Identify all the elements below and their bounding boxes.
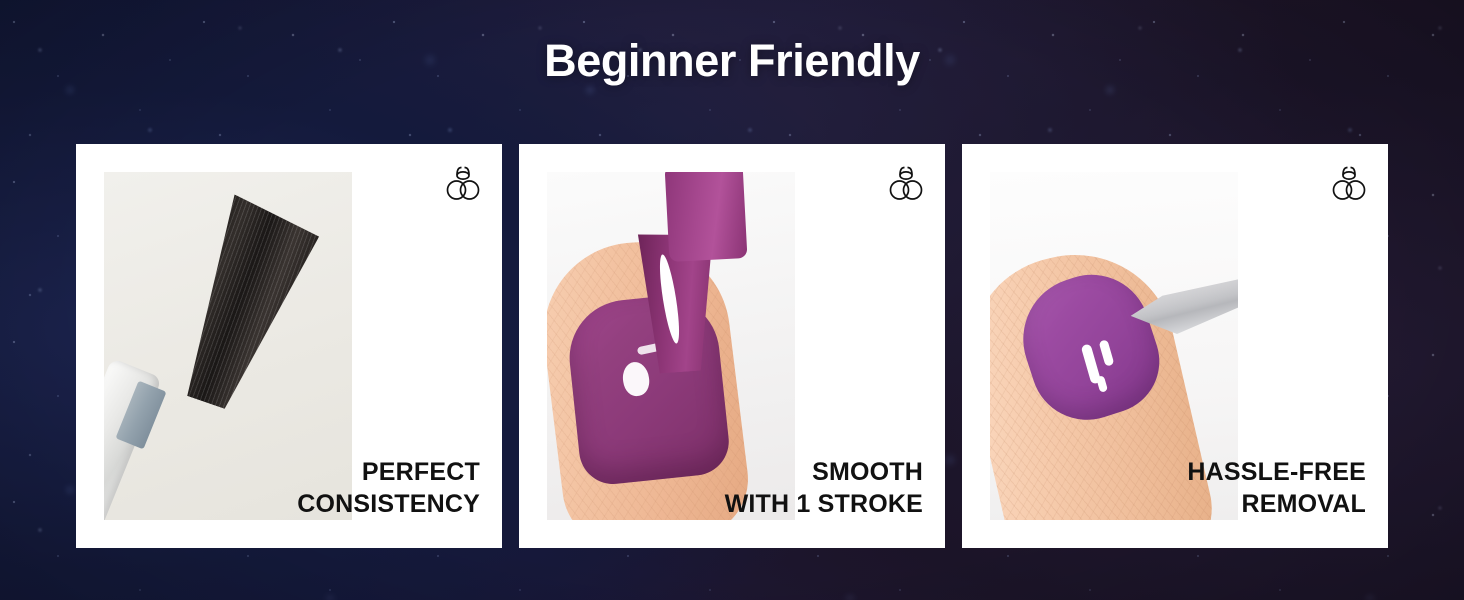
card-caption: PERFECT CONSISTENCY	[297, 456, 480, 520]
feature-card-smooth-with-1-stroke[interactable]: SMOOTH WITH 1 STROKE	[519, 144, 945, 548]
card-caption: HASSLE-FREE REMOVAL	[1187, 456, 1366, 520]
card-caption: SMOOTH WITH 1 STROKE	[725, 456, 923, 520]
painted-nail-shape	[564, 291, 732, 488]
bottle-cap-shape	[665, 172, 748, 262]
feature-card-perfect-consistency[interactable]: PERFECT CONSISTENCY	[76, 144, 502, 548]
bee-logo-icon	[446, 166, 480, 202]
bee-logo-icon	[889, 166, 923, 202]
feature-card-hassle-free-removal[interactable]: HASSLE-FREE REMOVAL	[962, 144, 1388, 548]
product-feature-banner: Beginner Friendly PERFECT CONSISTENCY	[0, 0, 1464, 600]
feature-card-row: PERFECT CONSISTENCY	[76, 144, 1388, 548]
brush-bristles-shape	[158, 191, 323, 420]
bee-logo-icon	[1332, 166, 1366, 202]
page-title: Beginner Friendly	[0, 38, 1464, 83]
